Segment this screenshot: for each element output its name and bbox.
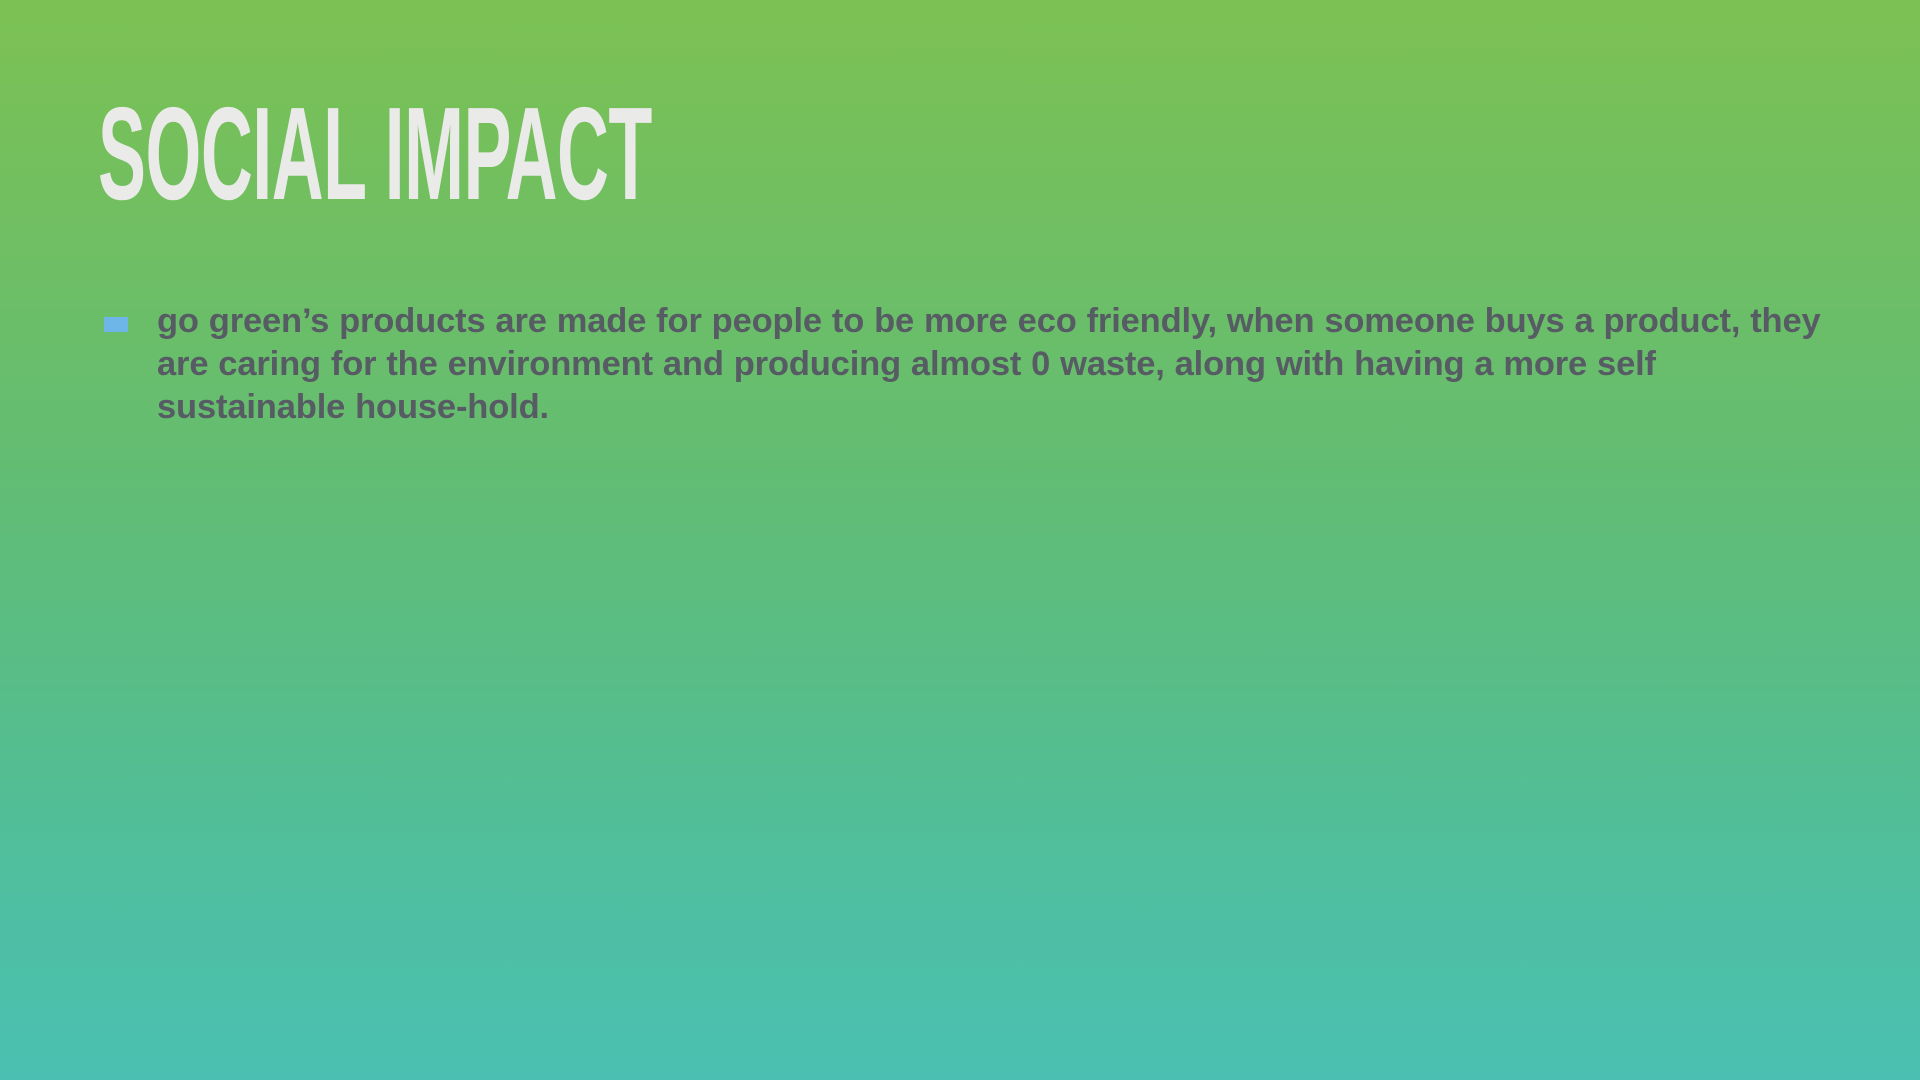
- bullet-marker-icon: [104, 317, 128, 332]
- slide-canvas: Social Impact go green’s products are ma…: [0, 0, 1920, 1080]
- bullet-text: go green’s products are made for people …: [157, 300, 1834, 429]
- title-block: Social Impact: [98, 88, 1498, 220]
- page-title: Social Impact: [98, 88, 861, 220]
- body-content: go green’s products are made for people …: [104, 300, 1834, 429]
- list-item: go green’s products are made for people …: [104, 300, 1834, 429]
